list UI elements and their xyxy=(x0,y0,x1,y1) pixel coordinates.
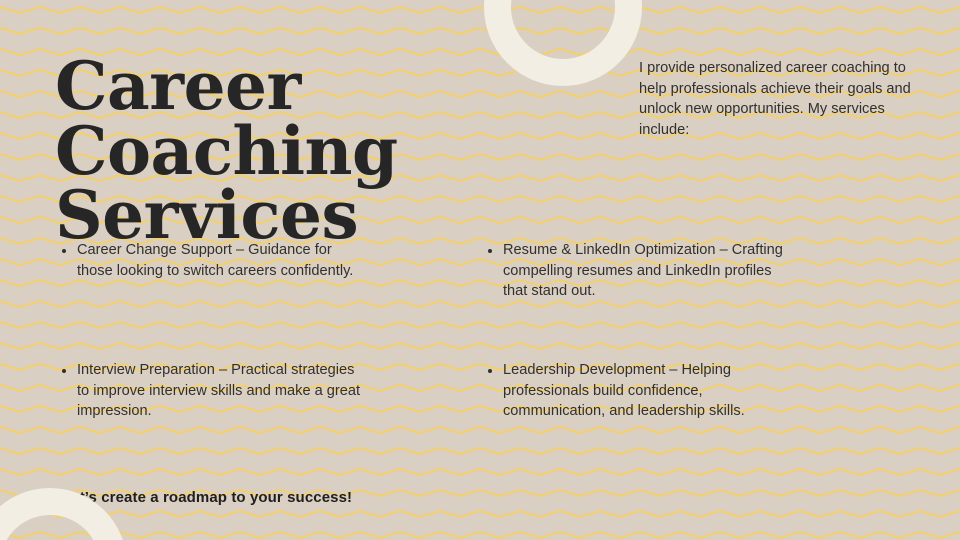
list-item: Resume & LinkedIn Optimization – Craftin… xyxy=(488,240,788,302)
service-item-text: Career Change Support – Guidance for tho… xyxy=(77,240,362,281)
service-item-interview-prep: Interview Preparation – Practical strate… xyxy=(62,360,362,422)
bullet-dot-icon xyxy=(62,249,66,253)
intro-paragraph: I provide personalized career coaching t… xyxy=(639,58,911,141)
service-item-text: Interview Preparation – Practical strate… xyxy=(77,360,362,422)
list-item: Leadership Development – Helping profess… xyxy=(488,360,788,422)
bullet-dot-icon xyxy=(488,249,492,253)
service-item-text: Leadership Development – Helping profess… xyxy=(503,360,788,422)
slide-canvas: Let’s create a roadmap to your success! … xyxy=(0,0,960,540)
page-title: Career Coaching Services xyxy=(55,54,615,248)
list-item: Interview Preparation – Practical strate… xyxy=(62,360,362,422)
service-item-leadership-development: Leadership Development – Helping profess… xyxy=(488,360,788,422)
bullet-dot-icon xyxy=(488,369,492,373)
service-item-text: Resume & LinkedIn Optimization – Craftin… xyxy=(503,240,788,302)
service-item-resume-linkedin: Resume & LinkedIn Optimization – Craftin… xyxy=(488,240,788,302)
service-item-career-change: Career Change Support – Guidance for tho… xyxy=(62,240,362,281)
list-item: Career Change Support – Guidance for tho… xyxy=(62,240,362,281)
slide-content: Career Coaching Services I provide perso… xyxy=(0,0,960,540)
bullet-dot-icon xyxy=(62,369,66,373)
